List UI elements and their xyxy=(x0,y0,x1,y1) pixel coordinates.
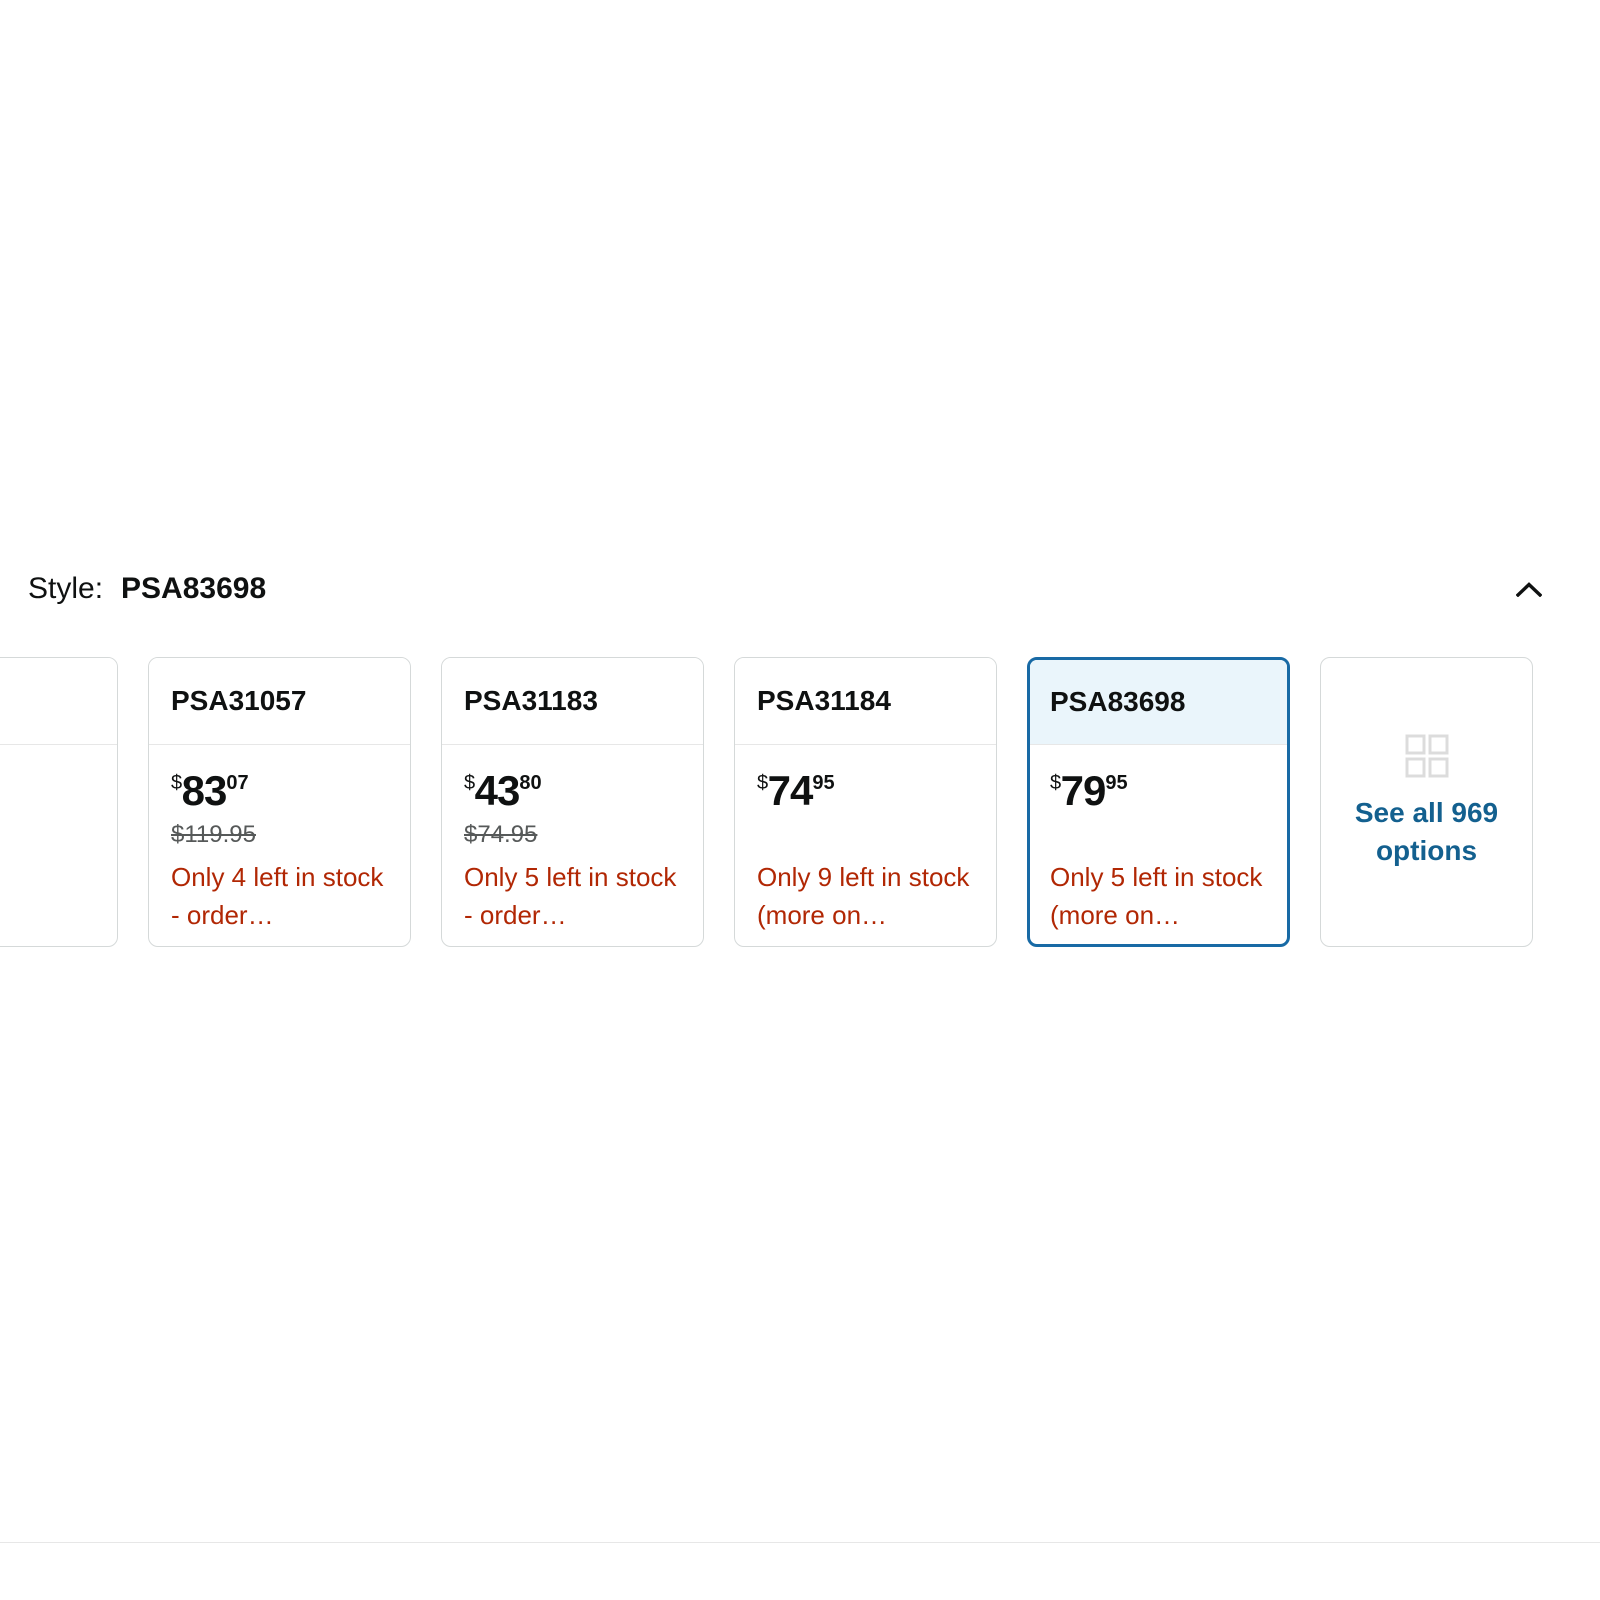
price-whole: 74 xyxy=(768,767,813,814)
swatch-price: $7995 xyxy=(1050,770,1265,814)
style-swatch[interactable]: PSA31057 $8307 $119.95 Only 4 left in st… xyxy=(148,657,411,947)
swatch-stock-message: Only 5 left in stock - order… xyxy=(464,859,681,934)
swatch-body xyxy=(0,745,117,946)
see-all-options-label: See all 969 options xyxy=(1333,794,1520,870)
swatch-body: $4380 $74.95 Only 5 left in stock - orde… xyxy=(442,745,703,946)
swatch-price: $7495 xyxy=(757,770,974,814)
swatch-body: $7995 Only 5 left in stock (more on… xyxy=(1030,745,1287,944)
style-swatch-selected[interactable]: PSA83698 $7995 Only 5 left in stock (mor… xyxy=(1027,657,1290,947)
swatch-stock-message: Only 9 left in stock (more on… xyxy=(757,859,974,934)
grid-2x2-icon xyxy=(1405,734,1449,778)
swatch-stock-message: Only 4 left in stock - order… xyxy=(171,859,388,934)
see-all-options-card[interactable]: See all 969 options xyxy=(1320,657,1533,947)
swatch-header: PSA83698 xyxy=(1030,660,1287,745)
swatch-list-price xyxy=(757,821,974,851)
swatch-list-price xyxy=(1050,821,1265,851)
swatch-title: PSA31183 xyxy=(464,687,598,715)
swatch-list-price: $74.95 xyxy=(464,821,681,851)
price-currency-symbol: $ xyxy=(464,772,475,794)
swatch-stock-message: Only 5 left in stock (more on… xyxy=(1050,859,1265,934)
price-fraction: 95 xyxy=(1105,772,1127,794)
collapse-button[interactable] xyxy=(1506,566,1552,612)
swatch-header: PSA31184 xyxy=(735,658,996,745)
swatch-header: PSA31183 xyxy=(442,658,703,745)
price-fraction: 95 xyxy=(812,772,834,794)
price-currency-symbol: $ xyxy=(1050,772,1061,794)
style-swatch[interactable]: PSA31184 $7495 Only 9 left in stock (mor… xyxy=(734,657,997,947)
price-fraction: 07 xyxy=(226,772,248,794)
swatch-title: PSA31057 xyxy=(171,687,306,715)
price-currency-symbol: $ xyxy=(757,772,768,794)
section-divider xyxy=(0,1542,1600,1543)
style-carousel[interactable]: 50 PSA31057 $8307 xyxy=(0,657,1600,957)
swatch-list-price: $119.95 xyxy=(171,821,388,851)
price-currency-symbol: $ xyxy=(171,772,182,794)
style-selected-value: PSA83698 xyxy=(121,574,266,604)
swatch-price: $4380 xyxy=(464,770,681,814)
style-swatch[interactable]: 50 xyxy=(0,657,118,947)
price-whole: 83 xyxy=(182,767,227,814)
price-whole: 43 xyxy=(475,767,520,814)
swatch-body: $8307 $119.95 Only 4 left in stock - ord… xyxy=(149,745,410,946)
chevron-up-icon xyxy=(1516,582,1542,597)
style-twister: Style: PSA83698 50 xyxy=(0,560,1600,957)
style-swatch[interactable]: PSA31183 $4380 $74.95 Only 5 left in sto… xyxy=(441,657,704,947)
price-fraction: 80 xyxy=(519,772,541,794)
swatch-price xyxy=(0,770,95,814)
swatch-title: PSA83698 xyxy=(1050,688,1185,716)
swatch-title: PSA31184 xyxy=(757,687,891,715)
style-label: Style: xyxy=(28,574,103,604)
swatch-header: PSA31057 xyxy=(149,658,410,745)
swatch-list-price xyxy=(0,821,95,851)
swatch-header: 50 xyxy=(0,658,117,745)
style-carousel-track: 50 PSA31057 $8307 xyxy=(0,657,1533,957)
twister-header: Style: PSA83698 xyxy=(0,560,1600,618)
swatch-body: $7495 Only 9 left in stock (more on… xyxy=(735,745,996,946)
swatch-price: $8307 xyxy=(171,770,388,814)
price-whole: 79 xyxy=(1061,767,1106,814)
